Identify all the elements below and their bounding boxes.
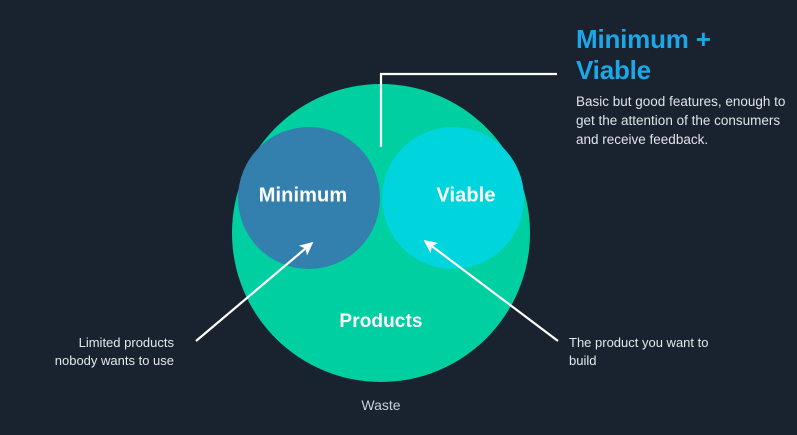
diagram-canvas: Minimum Viable Products Waste Minimum + … bbox=[0, 0, 797, 435]
callout-title: Minimum + Viable bbox=[576, 24, 791, 85]
minimum-circle-label: Minimum bbox=[259, 185, 347, 208]
callout-description: Basic but good features, enough to get t… bbox=[576, 93, 791, 149]
viable-circle-label: Viable bbox=[436, 185, 495, 208]
right-annotation-text: The product you want to build bbox=[569, 334, 719, 371]
left-annotation-text: Limited products nobody wants to use bbox=[48, 334, 174, 371]
callout-block: Minimum + Viable Basic but good features… bbox=[576, 24, 791, 149]
products-circle-label: Products bbox=[339, 311, 422, 333]
waste-label: Waste bbox=[361, 397, 400, 413]
